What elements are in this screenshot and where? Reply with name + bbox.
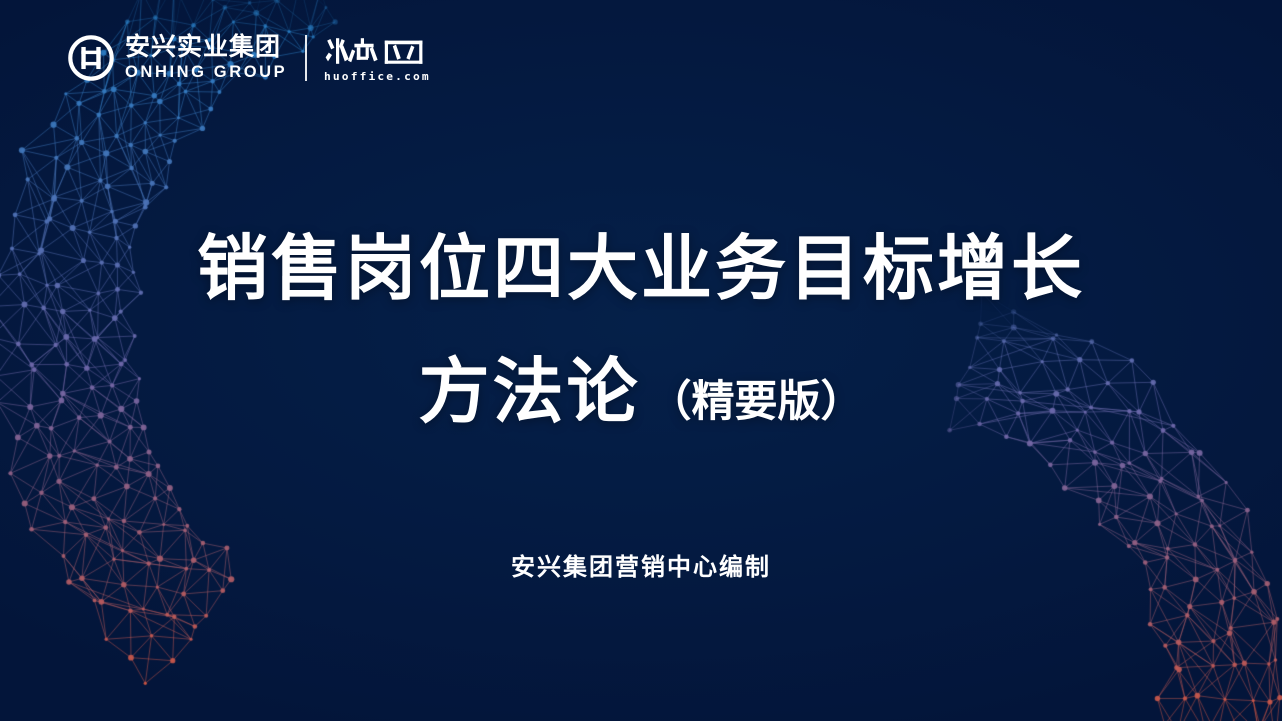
logo-divider (305, 35, 307, 81)
partner-url-text: huoffice.com (324, 71, 431, 82)
subtitle-text: 安兴集团营销中心编制 (0, 556, 1282, 580)
onhing-circle-h-icon (68, 35, 114, 81)
main-title-suffix: （精要版） (649, 381, 864, 424)
main-title-line-2: 方法论 (418, 357, 640, 428)
huoffice-logo-icon (324, 35, 428, 67)
title-slide: 安兴实业集团 ONHING GROUP (0, 0, 1282, 721)
onhing-group-logo: 安兴实业集团 ONHING GROUP (68, 35, 287, 81)
main-title-line-2-wrap: 方法论 （精要版） (0, 357, 1282, 428)
main-title-line-1: 销售岗位四大业务目标增长 (0, 234, 1282, 305)
brand-name-cn: 安兴实业集团 (125, 35, 287, 60)
brand-name-en: ONHING GROUP (125, 64, 287, 81)
huoffice-logo: huoffice.com (324, 35, 429, 82)
logo-bar: 安兴实业集团 ONHING GROUP (68, 30, 429, 86)
